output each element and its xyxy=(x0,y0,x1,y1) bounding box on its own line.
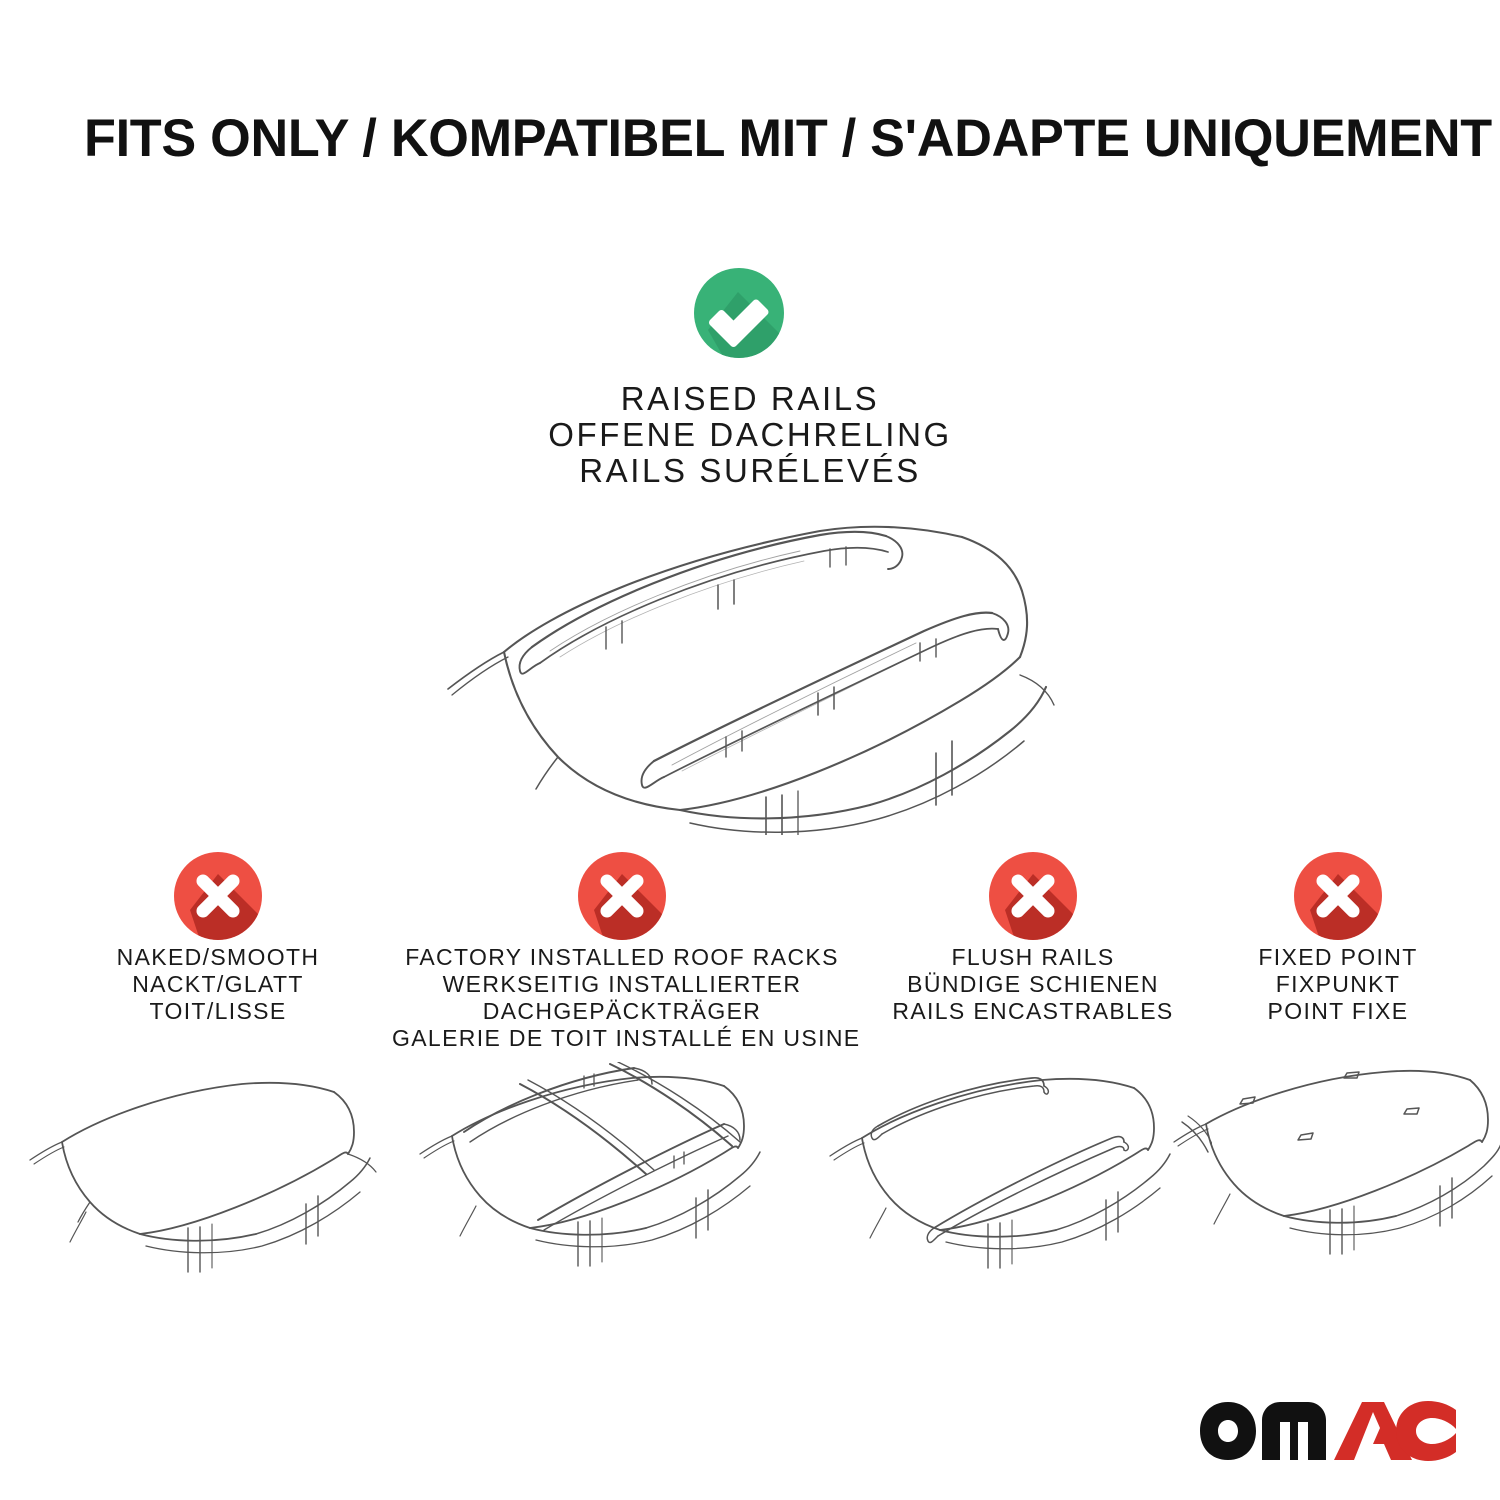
x-circle-icon xyxy=(174,852,262,940)
x-circle-icon xyxy=(578,852,666,940)
rejected-caption: FACTORY INSTALLED ROOF RACKS WERKSEITIG … xyxy=(392,944,852,1052)
rejected-caption-line: POINT FIXE xyxy=(1158,998,1500,1025)
rejected-caption-line: FIXED POINT xyxy=(1158,944,1500,971)
naked-smooth-roof-illustration xyxy=(28,1062,408,1292)
approved-caption-line: OFFENE DACHRELING xyxy=(400,417,1100,453)
rejected-caption: NAKED/SMOOTH NACKT/GLATT TOIT/LISSE xyxy=(38,944,398,1025)
logo-letter-c xyxy=(1396,1401,1456,1461)
x-circle-icon xyxy=(1294,852,1382,940)
rejected-caption: FIXED POINT FIXPUNKT POINT FIXE xyxy=(1158,944,1500,1025)
raised-rails-illustration xyxy=(400,505,1100,835)
flush-rails-illustration xyxy=(822,1062,1212,1292)
rejected-caption-line: GALERIE DE TOIT INSTALLÉ EN USINE xyxy=(392,1025,852,1052)
factory-roof-racks-illustration xyxy=(412,1062,802,1292)
page-title: FITS ONLY / KOMPATIBEL MIT / S'ADAPTE UN… xyxy=(84,108,1404,169)
x-circle-icon xyxy=(989,852,1077,940)
rejected-caption-line: DACHGEPÄCKTRÄGER xyxy=(392,998,852,1025)
rejected-caption-line: NAKED/SMOOTH xyxy=(38,944,398,971)
logo-letter-o xyxy=(1200,1402,1256,1460)
omac-logo xyxy=(1198,1400,1458,1462)
approved-caption: RAISED RAILS OFFENE DACHRELING RAILS SUR… xyxy=(400,381,1100,489)
rejected-caption-line: FACTORY INSTALLED ROOF RACKS xyxy=(392,944,852,971)
rejected-caption-line: NACKT/GLATT xyxy=(38,971,398,998)
fitment-compatibility-sheet: FITS ONLY / KOMPATIBEL MIT / S'ADAPTE UN… xyxy=(0,0,1500,1500)
rejected-caption-line: WERKSEITIG INSTALLIERTER xyxy=(392,971,852,998)
approved-caption-line: RAISED RAILS xyxy=(400,381,1100,417)
approved-caption-line: RAILS SURÉLEVÉS xyxy=(400,453,1100,489)
rejected-caption-line: FIXPUNKT xyxy=(1158,971,1500,998)
fixed-point-illustration xyxy=(1172,1062,1500,1292)
logo-letter-m xyxy=(1262,1402,1326,1460)
check-circle-icon xyxy=(694,268,784,358)
rejected-caption-line: TOIT/LISSE xyxy=(38,998,398,1025)
